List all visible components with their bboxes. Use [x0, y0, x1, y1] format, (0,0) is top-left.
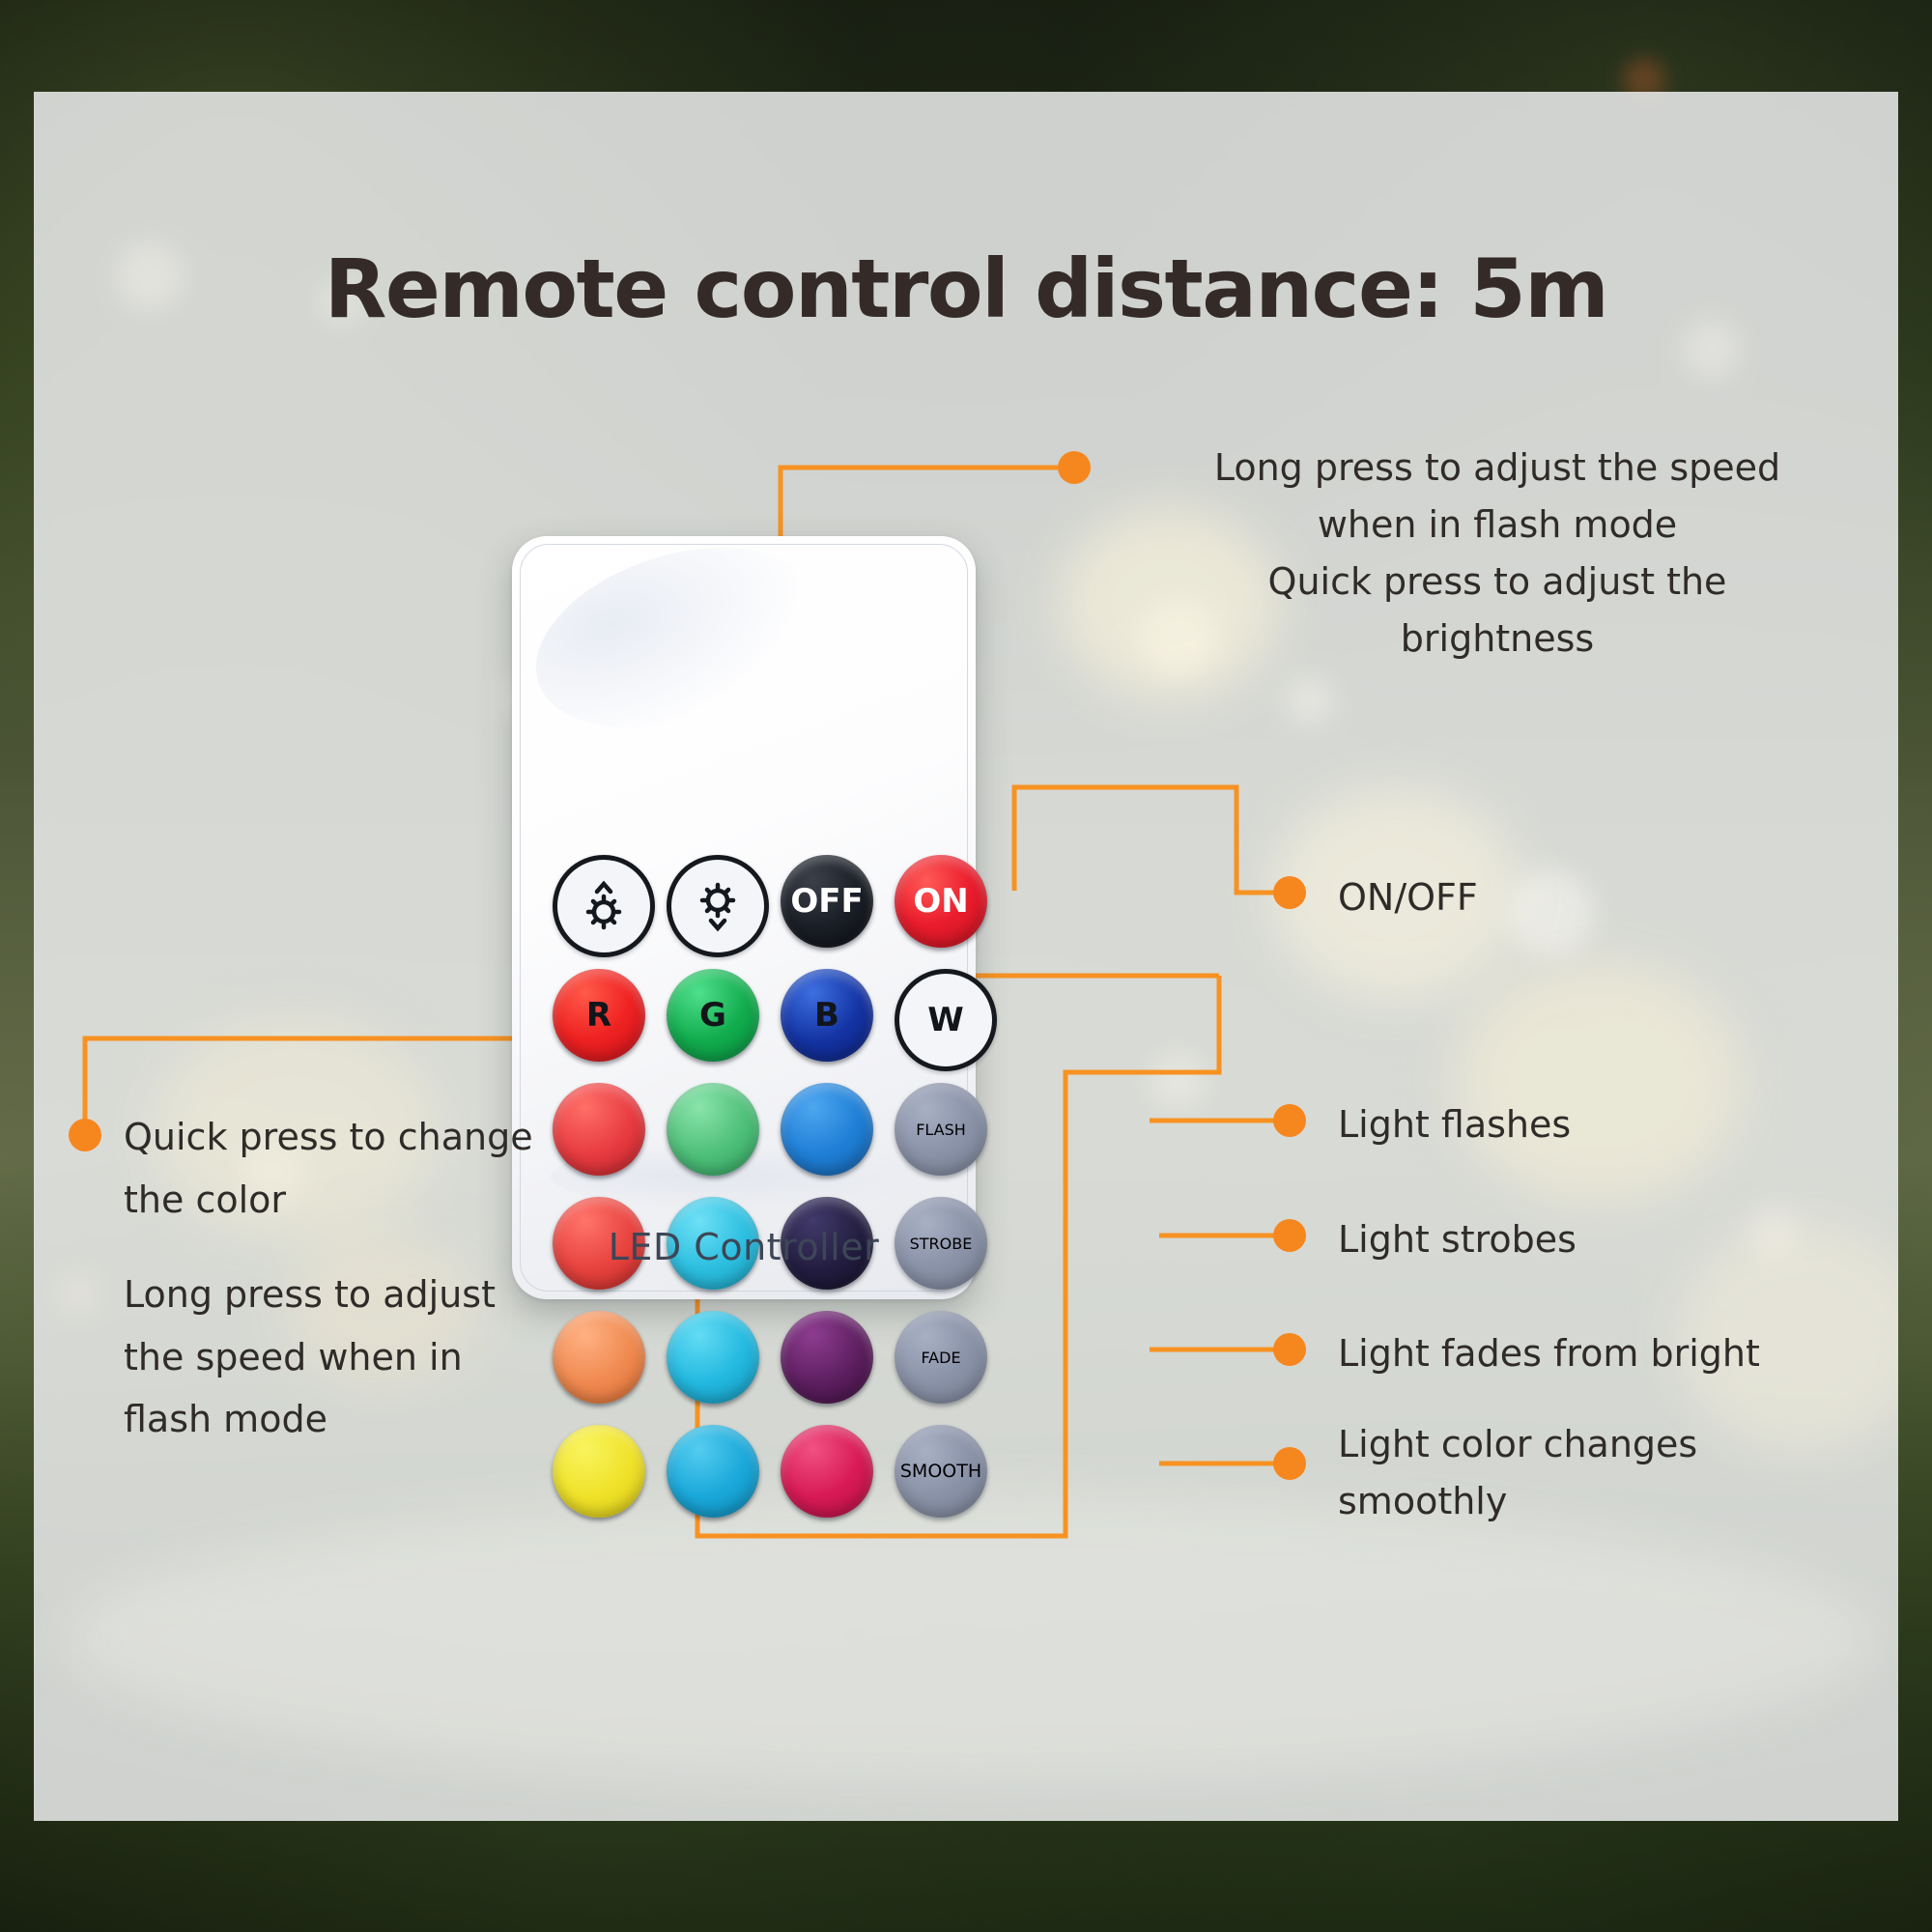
smooth-button-label: SMOOTH [900, 1461, 981, 1482]
off-button[interactable]: OFF [781, 855, 873, 948]
color-button-white-label: W [927, 1004, 964, 1037]
callout-dot-brightness [1058, 451, 1091, 484]
off-button-label: OFF [790, 885, 863, 918]
annotation-brightness-line2: when in flash mode [1150, 497, 1845, 554]
callout-dot-onoff [1273, 876, 1306, 909]
color-button-r4c3[interactable] [781, 1311, 873, 1404]
annotation-color-change: Quick press to change the color Long pre… [124, 1106, 607, 1451]
annotation-smooth: Light color changes smoothly [1338, 1416, 1879, 1530]
callout-dot-color [69, 1119, 101, 1151]
brightness-up-button[interactable] [553, 855, 655, 957]
annotation-fade: Light fades from bright [1338, 1325, 1918, 1382]
annotation-color-spacer [124, 1231, 607, 1264]
color-button-r5c3[interactable] [781, 1425, 873, 1518]
annotation-color-line3: Long press to adjust [124, 1264, 607, 1326]
color-button-r2c2[interactable] [667, 1083, 759, 1176]
annotation-brightness-line4: brightness [1150, 611, 1845, 668]
color-button-r4c2[interactable] [667, 1311, 759, 1404]
color-button-white[interactable]: W [895, 969, 997, 1071]
infographic-stage: Remote control distance: 5m [0, 0, 1932, 1932]
annotation-brightness: Long press to adjust the speed when in f… [1150, 440, 1845, 668]
flash-button[interactable]: FLASH [895, 1083, 987, 1176]
on-button-label: ON [913, 885, 968, 918]
color-button-green[interactable]: G [667, 969, 759, 1062]
color-button-r2c3[interactable] [781, 1083, 873, 1176]
color-button-red[interactable]: R [553, 969, 645, 1062]
annotation-brightness-line1: Long press to adjust the speed [1150, 440, 1845, 497]
fade-button[interactable]: FADE [895, 1311, 987, 1404]
color-button-green-label: G [699, 999, 726, 1032]
annotation-color-line2: the color [124, 1169, 607, 1232]
flash-button-label: FLASH [916, 1121, 966, 1139]
annotation-color-line1: Quick press to change [124, 1106, 607, 1169]
color-button-blue-label: B [814, 999, 839, 1032]
callout-dot-strobe [1273, 1219, 1306, 1252]
callout-dot-flash [1273, 1104, 1306, 1137]
callout-dot-smooth [1273, 1447, 1306, 1480]
sun-up-icon [573, 875, 635, 937]
sun-down-icon [687, 875, 749, 937]
brightness-down-button[interactable] [667, 855, 769, 957]
color-button-blue[interactable]: B [781, 969, 873, 1062]
callout-dot-fade [1273, 1333, 1306, 1366]
annotation-smooth-line2: smoothly [1338, 1473, 1879, 1530]
annotation-brightness-line3: Quick press to adjust the [1150, 554, 1845, 611]
annotation-strobe: Light strobes [1338, 1211, 1879, 1268]
on-button[interactable]: ON [895, 855, 987, 948]
fade-button-label: FADE [921, 1349, 960, 1367]
color-button-r5c2[interactable] [667, 1425, 759, 1518]
remote-gloss [513, 515, 839, 760]
annotation-onoff: ON/OFF [1338, 869, 1879, 926]
annotation-color-line5: flash mode [124, 1388, 607, 1451]
page-title: Remote control distance: 5m [34, 241, 1898, 336]
smooth-button[interactable]: SMOOTH [895, 1425, 987, 1518]
annotation-smooth-line1: Light color changes [1338, 1416, 1879, 1473]
color-button-red-label: R [586, 999, 611, 1032]
annotation-color-line4: the speed when in [124, 1326, 607, 1389]
annotation-flash: Light flashes [1338, 1096, 1879, 1153]
